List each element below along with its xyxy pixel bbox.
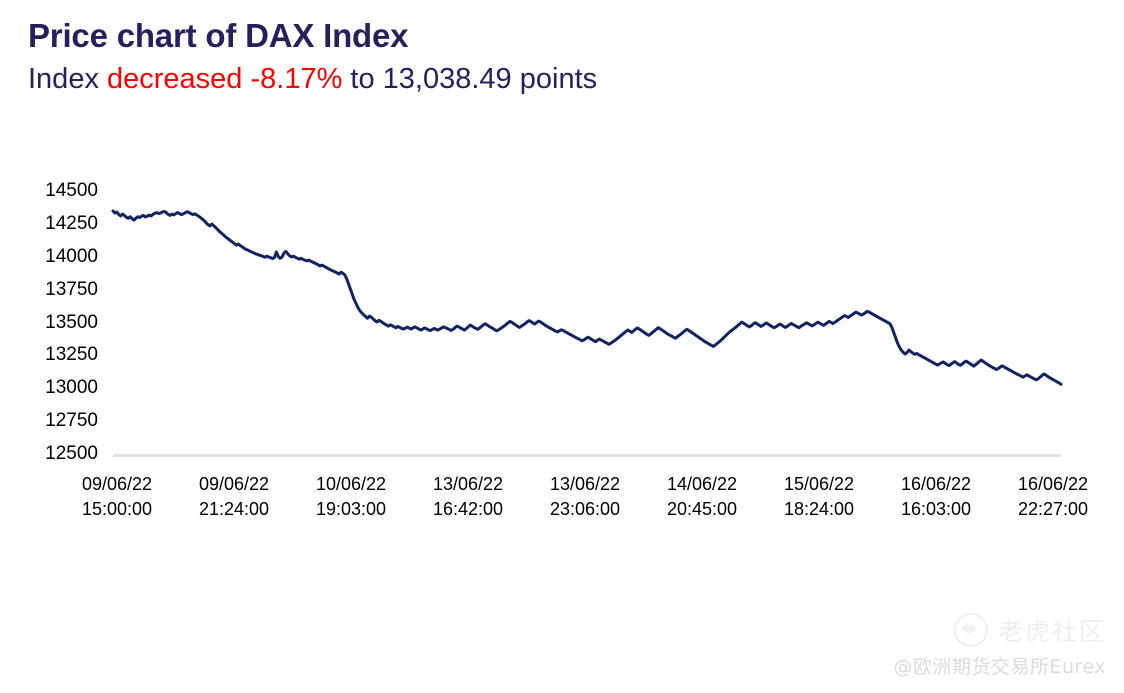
price-line-chart [0, 0, 1124, 693]
x-tick-time: 21:24:00 [169, 497, 299, 522]
x-tick-date: 09/06/22 [82, 474, 152, 494]
x-tick-label: 09/06/2215:00:00 [52, 472, 182, 522]
x-tick-date: 13/06/22 [550, 474, 620, 494]
x-tick-date: 10/06/22 [316, 474, 386, 494]
x-tick-date: 16/06/22 [1018, 474, 1088, 494]
y-tick-label: 14500 [0, 180, 98, 202]
y-tick-label: 13750 [0, 279, 98, 301]
x-tick-label: 09/06/2221:24:00 [169, 472, 299, 522]
x-tick-label: 13/06/2223:06:00 [520, 472, 650, 522]
x-tick-date: 16/06/22 [901, 474, 971, 494]
x-axis-tick-labels: 09/06/2215:00:0009/06/2221:24:0010/06/22… [0, 472, 1124, 532]
x-tick-date: 09/06/22 [199, 474, 269, 494]
x-tick-time: 16:03:00 [871, 497, 1001, 522]
y-tick-label: 12750 [0, 410, 98, 432]
x-tick-time: 22:27:00 [988, 497, 1118, 522]
y-tick-label: 14250 [0, 213, 98, 235]
chart-plot-area: 1450014250140001375013500132501300012750… [0, 0, 1124, 693]
x-tick-label: 16/06/2216:03:00 [871, 472, 1001, 522]
x-tick-time: 20:45:00 [637, 497, 767, 522]
x-tick-label: 14/06/2220:45:00 [637, 472, 767, 522]
y-tick-label: 13250 [0, 344, 98, 366]
x-tick-label: 15/06/2218:24:00 [754, 472, 884, 522]
x-tick-label: 10/06/2219:03:00 [286, 472, 416, 522]
y-tick-label: 13000 [0, 377, 98, 399]
x-tick-time: 19:03:00 [286, 497, 416, 522]
x-tick-date: 13/06/22 [433, 474, 503, 494]
y-axis-tick-labels: 1450014250140001375013500132501300012750… [0, 0, 103, 693]
y-tick-label: 14000 [0, 246, 98, 268]
x-tick-date: 15/06/22 [784, 474, 854, 494]
x-tick-label: 13/06/2216:42:00 [403, 472, 533, 522]
y-tick-label: 13500 [0, 312, 98, 334]
x-tick-date: 14/06/22 [667, 474, 737, 494]
y-tick-label: 12500 [0, 443, 98, 465]
x-tick-time: 16:42:00 [403, 497, 533, 522]
x-tick-time: 18:24:00 [754, 497, 884, 522]
price-series-line [113, 211, 1061, 384]
x-tick-label: 16/06/2222:27:00 [988, 472, 1118, 522]
x-tick-time: 23:06:00 [520, 497, 650, 522]
x-tick-time: 15:00:00 [52, 497, 182, 522]
